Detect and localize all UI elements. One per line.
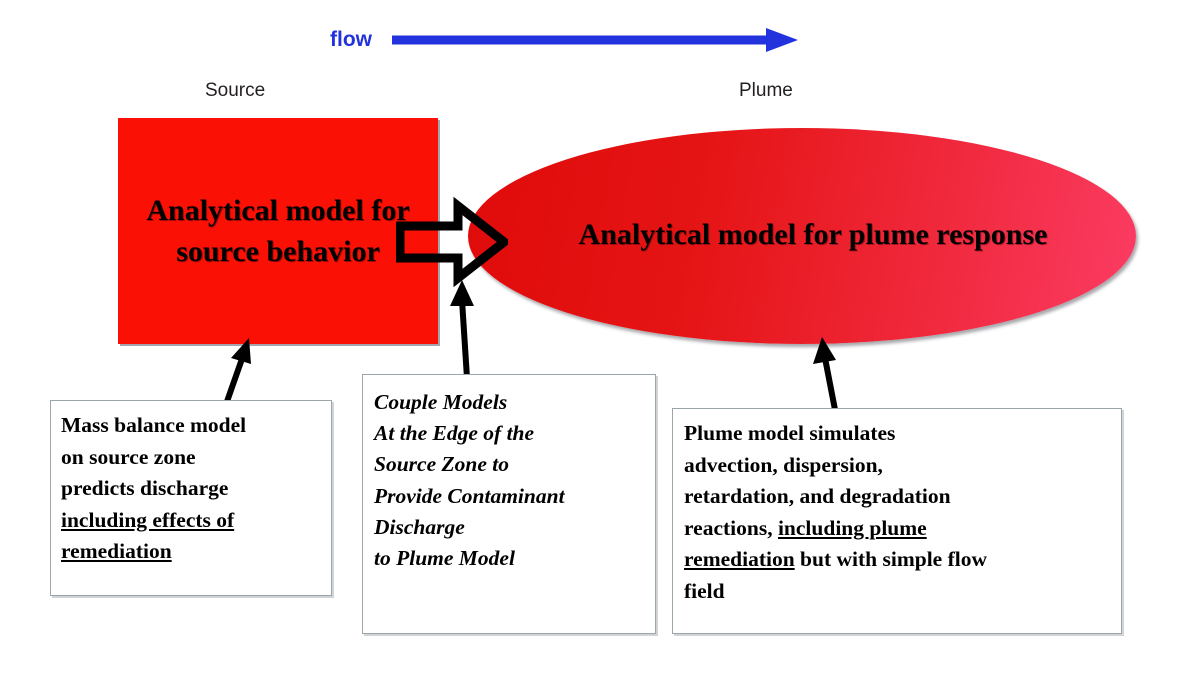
plume-model-ellipse: Analytical model for plume response <box>468 128 1136 344</box>
source-note-text: Mass balance modelon source zonepredicts… <box>51 401 331 568</box>
flow-arrow-icon <box>392 26 798 54</box>
plume-note-box: Plume model simulatesadvection, dispersi… <box>672 408 1122 634</box>
coupling-note-box: Couple ModelsAt the Edge of theSource Zo… <box>362 374 656 634</box>
flow-label: flow <box>330 28 372 52</box>
block-right-arrow-icon <box>396 196 508 288</box>
plume-model-ellipse-text: Analytical model for plume response <box>579 214 1048 259</box>
coupling-note-pointer-icon <box>440 278 490 380</box>
source-label: Source <box>205 80 265 102</box>
source-note-box: Mass balance modelon source zonepredicts… <box>50 400 332 596</box>
diagram-canvas: flow Source Plume Analytical model for s… <box>0 0 1199 681</box>
plume-note-text: Plume model simulatesadvection, dispersi… <box>673 409 1121 608</box>
coupling-note-text: Couple ModelsAt the Edge of theSource Zo… <box>363 375 655 574</box>
source-model-box-text: Analytical model for source behavior <box>118 190 438 273</box>
plume-label: Plume <box>739 80 793 102</box>
source-model-box: Analytical model for source behavior <box>118 118 438 344</box>
